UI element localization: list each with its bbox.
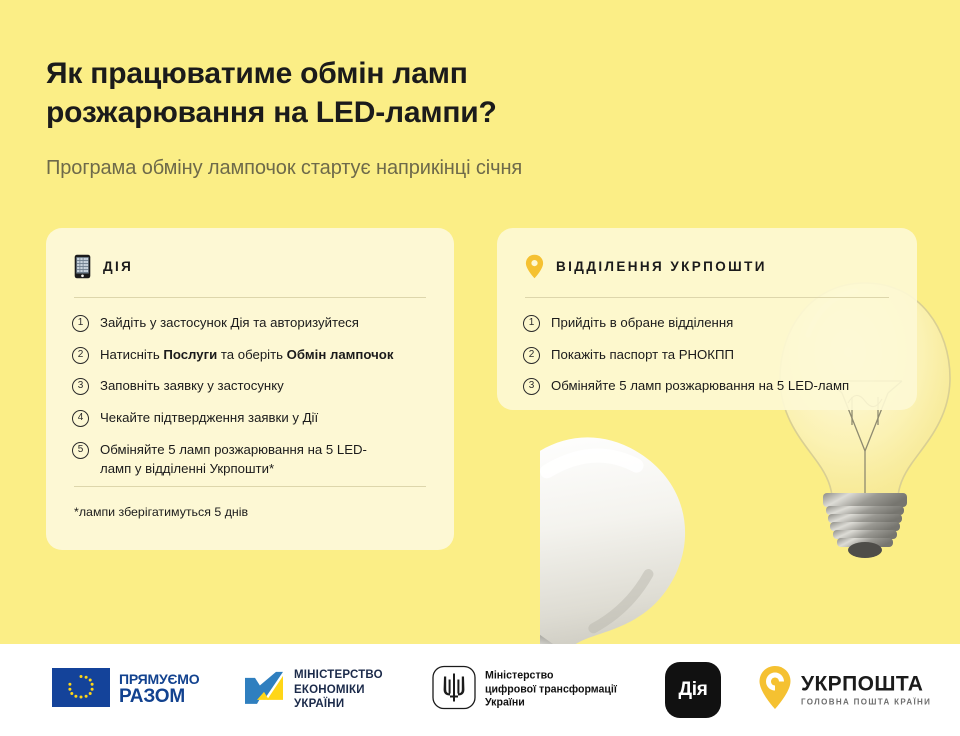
card-diia-header: ДІЯ bbox=[46, 228, 454, 279]
logo-eu-line2: РАЗОМ bbox=[119, 686, 185, 707]
logo-diia-app: Дія bbox=[665, 662, 721, 718]
logo-digital-ministry: Міністерство цифрової трансформації Укра… bbox=[432, 666, 617, 715]
list-item: 4 Чекайте підтвердження заявки у Дії bbox=[72, 409, 428, 428]
list-item: 3 Заповніть заявку у застосунку bbox=[72, 377, 428, 396]
logo-digital-line3: України bbox=[485, 697, 525, 709]
card-diia-title: ДІЯ bbox=[103, 259, 133, 274]
diia-app-label: Дія bbox=[678, 679, 707, 701]
logo-ukrposhta-text: УКРПОШТА ГОЛОВНА ПОШТА КРАЇНИ bbox=[801, 674, 931, 707]
bulb-screw-cap bbox=[823, 493, 907, 558]
diia-app-icon: Дія bbox=[665, 662, 721, 718]
page-subtitle: Програма обміну лампочок стартує наприкі… bbox=[46, 155, 846, 181]
logo-economy-line1: МІНІСТЕРСТВО bbox=[294, 669, 383, 681]
step-text: Обміняйте 5 ламп розжарювання на 5 LED-л… bbox=[551, 377, 849, 396]
logo-ukrposhta-line2: ГОЛОВНА ПОШТА КРАЇНИ bbox=[801, 698, 931, 707]
logo-eu-text: ПРЯМУЄМО РАЗОМ bbox=[119, 672, 199, 708]
smartphone-icon bbox=[74, 254, 91, 279]
step-number: 1 bbox=[523, 315, 540, 332]
ukraine-trident-icon bbox=[432, 666, 476, 715]
list-item: 2 Покажіть паспорт та РНОКПП bbox=[523, 346, 891, 365]
logo-ukrposhta-line1: УКРПОШТА bbox=[801, 674, 931, 695]
footer-logo-bar: ПРЯМУЄМО РАЗОМ МІНІСТЕРСТВО ЕКОНОМІКИ УК… bbox=[0, 644, 960, 736]
step-text: Чекайте підтвердження заявки у Дії bbox=[100, 409, 318, 428]
step-number: 5 bbox=[72, 442, 89, 459]
infographic-poster: Як працюватиме обмін ламп розжарювання н… bbox=[0, 0, 960, 736]
card-diia: ДІЯ 1 Зайдіть у застосунок Дія та автори… bbox=[46, 228, 454, 550]
ukrposhta-pin-icon bbox=[758, 665, 792, 716]
yellow-stage: Як працюватиме обмін ламп розжарювання н… bbox=[0, 0, 960, 644]
list-item: 2 Натисніть Послуги та оберіть Обмін лам… bbox=[72, 346, 428, 365]
list-item: 1 Зайдіть у застосунок Дія та авторизуйт… bbox=[72, 314, 428, 333]
step-number: 2 bbox=[72, 347, 89, 364]
card-ukrposhta-title: ВІДДІЛЕННЯ УКРПОШТИ bbox=[556, 259, 767, 274]
logo-economy-line2: ЕКОНОМІКИ bbox=[294, 684, 365, 696]
step-text: Натисніть Послуги та оберіть Обмін лампо… bbox=[100, 346, 393, 365]
step-number: 4 bbox=[72, 410, 89, 427]
page-title: Як працюватиме обмін ламп розжарювання н… bbox=[46, 54, 686, 132]
step-text: Заповніть заявку у застосунку bbox=[100, 377, 284, 396]
step-number: 3 bbox=[72, 378, 89, 395]
logo-digital-text: Міністерство цифрової трансформації Укра… bbox=[485, 669, 617, 711]
led-bulb bbox=[540, 401, 722, 644]
card-ukrposhta-header: ВІДДІЛЕННЯ УКРПОШТИ bbox=[497, 228, 917, 279]
logo-economy-ministry: МІНІСТЕРСТВО ЕКОНОМІКИ УКРАЇНИ bbox=[243, 668, 383, 712]
logo-digital-line1: Міністерство bbox=[485, 669, 553, 681]
step-number: 1 bbox=[72, 315, 89, 332]
logo-digital-line2: цифрової трансформації bbox=[485, 683, 617, 695]
step-number: 3 bbox=[523, 378, 540, 395]
logo-economy-line3: УКРАЇНИ bbox=[294, 698, 344, 710]
logo-ukrposhta: УКРПОШТА ГОЛОВНА ПОШТА КРАЇНИ bbox=[758, 665, 931, 716]
list-item: 1 Прийдіть в обране відділення bbox=[523, 314, 891, 333]
step-text: Прийдіть в обране відділення bbox=[551, 314, 733, 333]
card-ukrposhta-steps: 1 Прийдіть в обране відділення 2 Покажіт… bbox=[497, 298, 917, 396]
eu-flag-icon bbox=[52, 668, 110, 712]
step-text: Обміняйте 5 ламп розжарювання на 5 LED-л… bbox=[100, 441, 390, 478]
card-diia-steps: 1 Зайдіть у застосунок Дія та авторизуйт… bbox=[46, 298, 454, 478]
step-text: Покажіть паспорт та РНОКПП bbox=[551, 346, 734, 365]
card-diia-footnote: *лампи зберігатимуться 5 днів bbox=[46, 487, 454, 519]
list-item: 3 Обміняйте 5 ламп розжарювання на 5 LED… bbox=[523, 377, 891, 396]
step-number: 2 bbox=[523, 347, 540, 364]
ministry-economy-m-icon bbox=[243, 670, 285, 711]
list-item: 5 Обміняйте 5 ламп розжарювання на 5 LED… bbox=[72, 441, 428, 478]
step-text: Зайдіть у застосунок Дія та авторизуйтес… bbox=[100, 314, 359, 333]
card-ukrposhta: ВІДДІЛЕННЯ УКРПОШТИ 1 Прийдіть в обране … bbox=[497, 228, 917, 410]
logo-economy-text: МІНІСТЕРСТВО ЕКОНОМІКИ УКРАЇНИ bbox=[294, 668, 383, 712]
logo-eu: ПРЯМУЄМО РАЗОМ bbox=[52, 668, 199, 712]
map-pin-icon bbox=[525, 254, 544, 279]
logo-eu-line1: ПРЯМУЄМО bbox=[119, 671, 199, 687]
